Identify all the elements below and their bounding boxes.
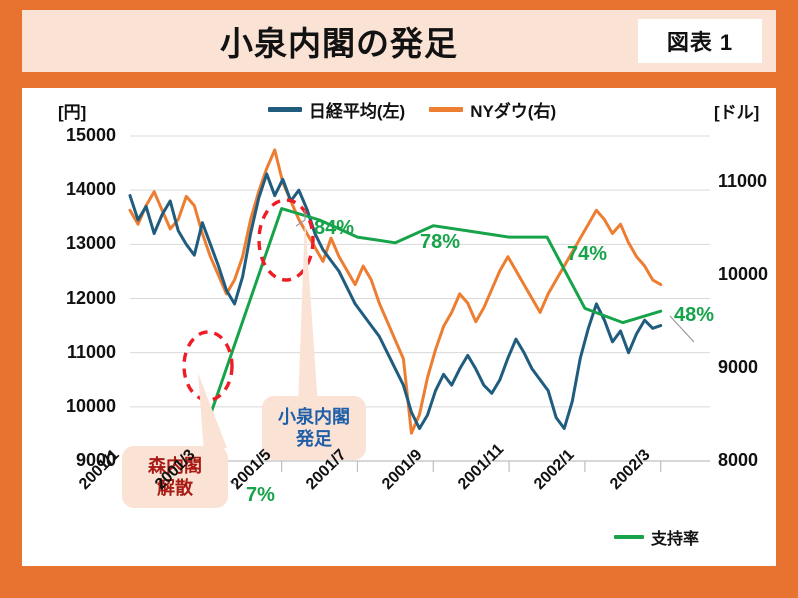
header-band: 小泉内閣の発足 図表 1: [22, 10, 776, 72]
y-axis-tick-right: 11000: [718, 171, 790, 192]
dow-series-line: [130, 150, 661, 433]
callout-koizumi-line1: 小泉内閣: [278, 406, 350, 429]
callout-koizumi-line2: 発足: [296, 428, 332, 451]
slide-root: 小泉内閣の発足 図表 1 [円] [ドル] 日経平均(左) NYダウ(右) 支持…: [0, 0, 798, 598]
y-axis-tick-right: 10000: [718, 264, 790, 285]
approval-pct-label: 7%: [246, 484, 275, 507]
callout-koizumi-cabinet-inauguration: 小泉内閣 発足: [262, 396, 366, 460]
y-axis-tick-left: 14000: [44, 179, 116, 200]
approval-pct-label: 84%: [314, 217, 354, 240]
approval-pct-label: 78%: [420, 231, 460, 254]
y-axis-tick-right: 8000: [718, 450, 790, 471]
y-axis-tick-left: 10000: [44, 396, 116, 417]
callout-tail-mori: [198, 373, 227, 452]
y-axis-tick-left: 13000: [44, 233, 116, 254]
y-axis-tick-left: 12000: [44, 288, 116, 309]
approval-pct-label: 48%: [674, 304, 714, 327]
y-axis-tick-right: 9000: [718, 357, 790, 378]
y-axis-tick-left: 11000: [44, 342, 116, 363]
chart-panel: [円] [ドル] 日経平均(左) NYダウ(右) 支持率: [22, 88, 776, 566]
highlight-ellipse-mori: [184, 332, 232, 400]
approval-pct-label: 74%: [567, 243, 607, 266]
y-axis-tick-left: 15000: [44, 125, 116, 146]
figure-badge: 図表 1: [638, 19, 762, 63]
